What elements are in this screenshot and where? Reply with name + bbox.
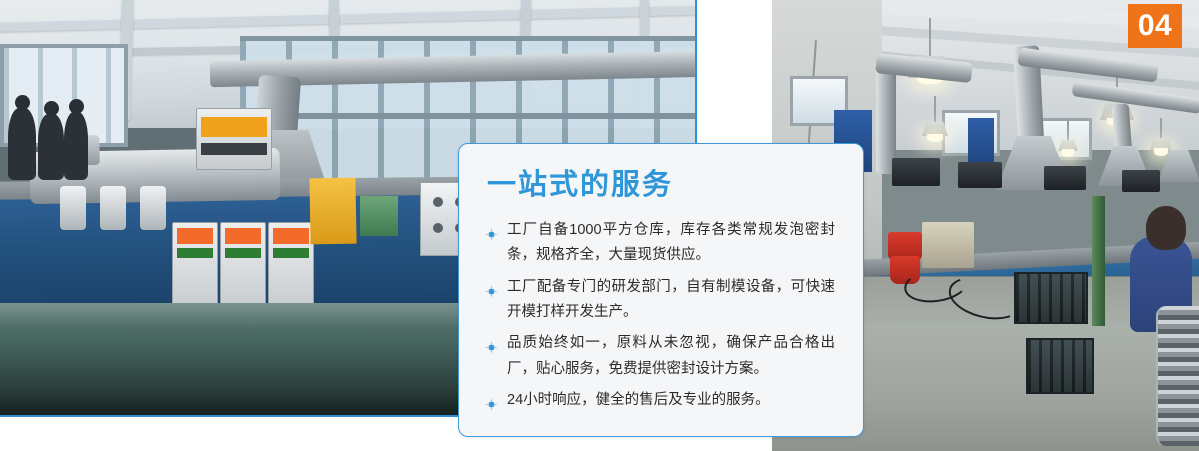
lamp-cord <box>929 18 931 56</box>
machine-unit <box>958 162 1002 188</box>
machine-roller <box>100 186 126 230</box>
control-indicator <box>225 248 261 258</box>
lamp-bulb <box>1154 148 1167 156</box>
machine-unit <box>1044 166 1086 190</box>
step-number-badge: 04 <box>1128 4 1182 48</box>
panel-strip <box>201 143 267 155</box>
list-item-text: 工厂自备1000平方仓库，库存各类常规发泡密封条，规格齐全，大量现货供应。 <box>507 222 835 263</box>
diamond-bullet-icon <box>485 225 498 238</box>
control-display <box>273 228 309 244</box>
panel-knob <box>433 197 443 207</box>
list-item: 工厂自备1000平方仓库，库存各类常规发泡密封条，规格齐全，大量现货供应。 <box>485 218 835 269</box>
lamp-bulb <box>1062 149 1074 157</box>
diamond-bullet-icon <box>485 338 498 351</box>
green-support-post <box>1092 196 1105 326</box>
worker-head <box>1146 206 1186 250</box>
service-bullet-list: 工厂自备1000平方仓库，库存各类常规发泡密封条，规格齐全，大量现货供应。 工 <box>485 218 835 414</box>
lamp-cord <box>1160 118 1162 138</box>
control-display <box>225 228 261 244</box>
service-info-card: 一站式的服务 工厂自备1000平方仓库，库存各类常规发泡密封条，规格齐全，大量现… <box>458 143 864 437</box>
worker-head <box>69 99 84 114</box>
worker-silhouette <box>38 114 64 180</box>
control-display <box>177 228 213 244</box>
blue-door <box>968 118 994 166</box>
green-equipment-box <box>360 196 398 236</box>
lamp-cord <box>934 96 936 122</box>
list-item: 品质始终如一，原料从未忽视，确保产品合格出厂，贴心服务，免费提供密封设计方案。 <box>485 331 835 382</box>
machine-roller <box>60 186 86 230</box>
panel-knob <box>433 223 443 233</box>
diamond-bullet-icon <box>485 395 498 408</box>
storage-crate <box>1026 338 1094 394</box>
pendant-lamp <box>1058 120 1078 154</box>
worker-head <box>15 95 30 110</box>
metal-coil-stack <box>1156 306 1199 446</box>
machine-unit <box>1122 170 1160 192</box>
list-item-text: 24小时响应，健全的售后及专业的服务。 <box>507 392 770 408</box>
control-cabinet <box>220 222 266 310</box>
pendant-lamp <box>1150 118 1172 154</box>
list-item-text: 工厂配备专门的研发部门，自有制模设备，可快速开模打样开发生产。 <box>507 279 835 320</box>
worker-silhouette <box>8 108 36 180</box>
storage-crate <box>1014 272 1088 324</box>
panel-display <box>201 117 267 137</box>
lamp-bulb <box>927 134 943 142</box>
control-indicator <box>177 248 213 258</box>
promo-banner: 04 一站式的服务 工厂自备1000平方仓库，库存各类 <box>0 0 1199 451</box>
step-number: 04 <box>1138 11 1172 41</box>
machine-unit <box>892 158 940 186</box>
worker-head <box>44 101 59 116</box>
list-item: 24小时响应，健全的售后及专业的服务。 <box>485 388 835 413</box>
pendant-lamp <box>922 96 948 142</box>
diamond-bullet-icon <box>485 282 498 295</box>
card-title: 一站式的服务 <box>487 170 835 202</box>
equipment-box <box>922 222 974 268</box>
control-panel <box>196 108 272 170</box>
machine-roller <box>140 186 166 230</box>
worker-silhouette <box>64 112 88 180</box>
list-item-text: 品质始终如一，原料从未忽视，确保产品合格出厂，贴心服务，免费提供密封设计方案。 <box>507 335 835 376</box>
control-cabinet <box>268 222 314 310</box>
control-indicator <box>273 248 309 258</box>
lamp-cord <box>1067 120 1069 140</box>
control-cabinet <box>172 222 218 310</box>
list-item: 工厂配备专门的研发部门，自有制模设备，可快速开模打样开发生产。 <box>485 275 835 326</box>
yellow-machine-guard <box>309 178 356 245</box>
